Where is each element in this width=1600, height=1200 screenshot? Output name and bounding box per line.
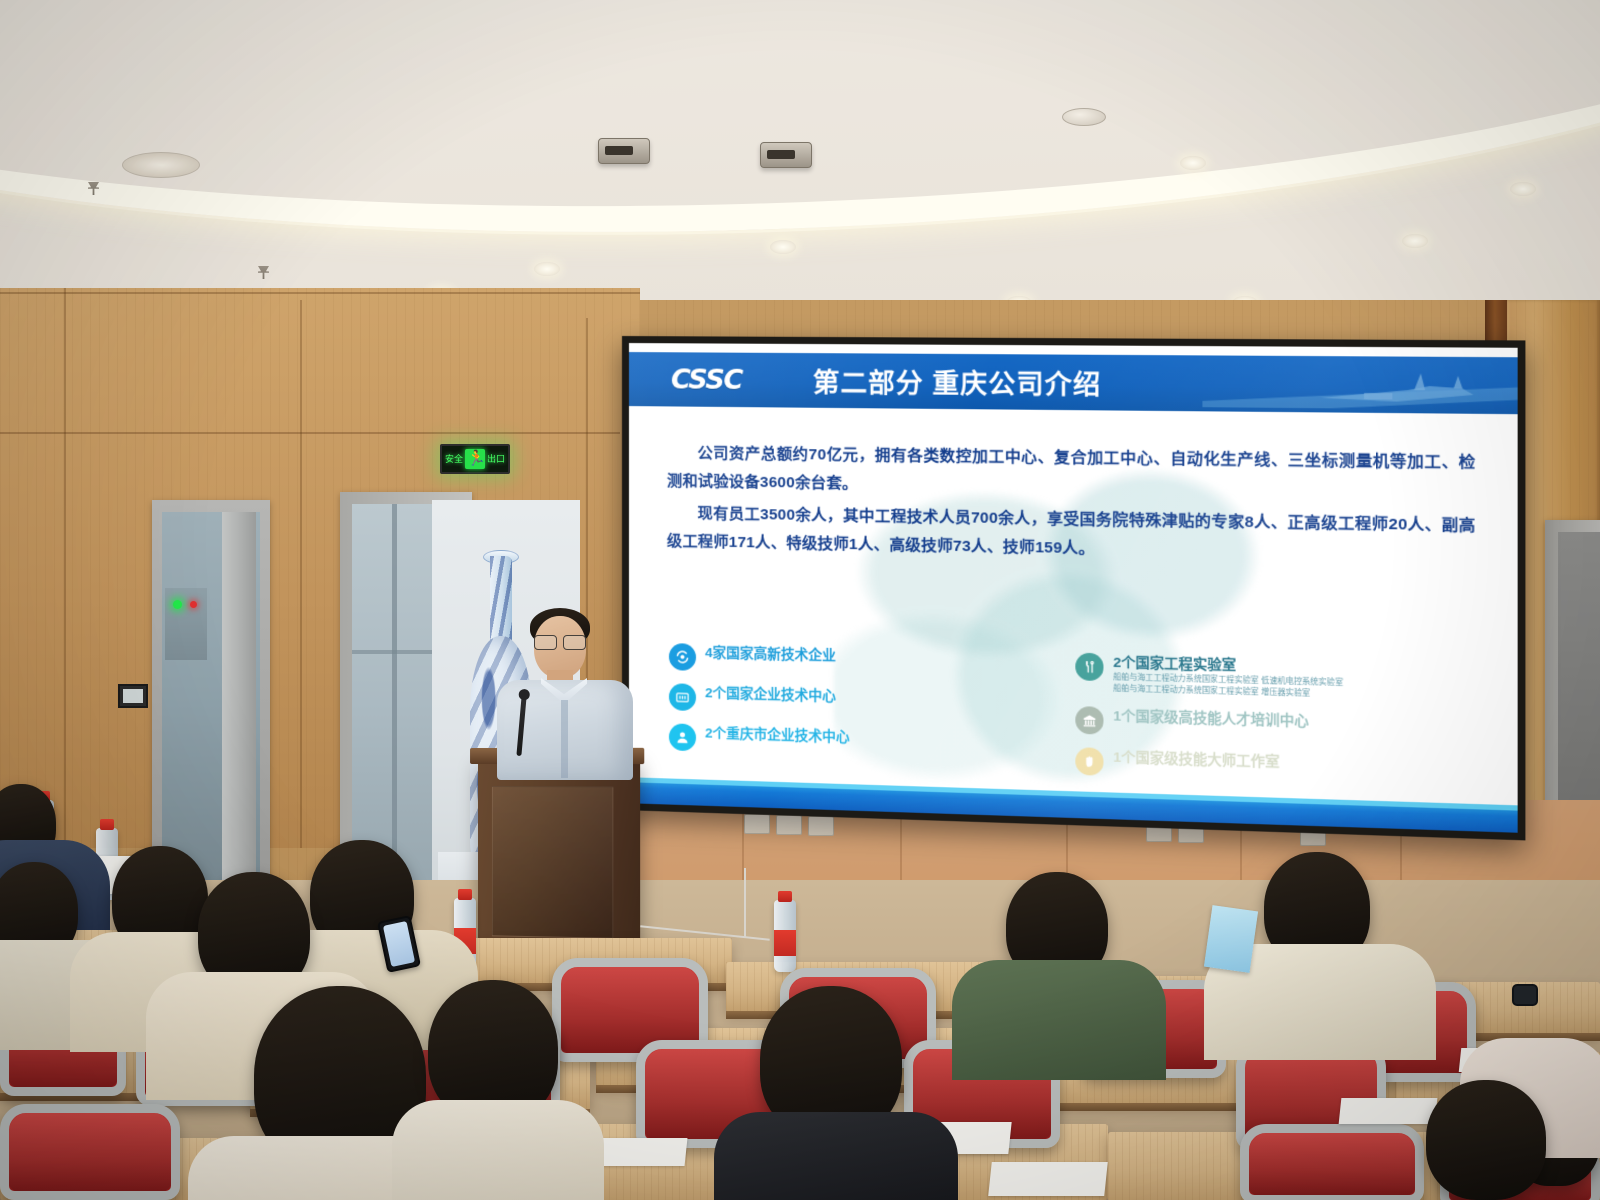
exit-sign-right-text: 出口 [487, 455, 505, 464]
highlight-label: 4家国家高新技术企业 [705, 644, 836, 665]
highlight-item: 2个重庆市企业技术中心 [669, 723, 1048, 761]
presenter-shirt-placket [561, 700, 568, 778]
smoke-detector [1062, 108, 1106, 126]
glasses-icon [534, 635, 586, 648]
highlight-label: 2个重庆市企业技术中心 [705, 724, 850, 746]
projection-screen: CSSC 第二部分 重庆公司介绍 公司资产总额约70亿元，拥有各类数控加工中心、… [622, 336, 1525, 840]
wall-seam [0, 432, 620, 434]
paper-handout [988, 1162, 1108, 1196]
ceiling-downlight [770, 240, 796, 254]
ceiling-downlight [1402, 234, 1428, 248]
ceiling-recessed-fixture [122, 152, 200, 178]
wall-socket[interactable] [744, 814, 770, 834]
wall-seam [0, 292, 640, 294]
slide-right-column: 2个国家工程实验室 船舶与海工工程动力系统国家工程实验室 低速机电控系统实验室 … [1075, 653, 1473, 787]
highlight-text-block: 2个国家工程实验室 船舶与海工工程动力系统国家工程实验室 低速机电控系统实验室 … [1113, 654, 1343, 700]
audience-shoulders [714, 1112, 958, 1200]
audience-head [1426, 1080, 1546, 1200]
ceiling-downlight [534, 262, 560, 276]
door-status-light-green [173, 600, 182, 609]
handout-booklet[interactable] [1204, 905, 1258, 973]
wall-socket[interactable] [776, 815, 802, 835]
ceiling-downlight [1510, 182, 1536, 196]
highlight-item: 2个国家企业技术中心 [669, 683, 1048, 721]
audience-shoulders [392, 1100, 604, 1200]
cssc-logo: CSSC [671, 364, 742, 396]
ceiling-downlight [1180, 156, 1206, 170]
slide-header-bar: CSSC 第二部分 重庆公司介绍 [629, 352, 1518, 414]
highlight-item: 1个国家级高技能人才培训中心 [1075, 706, 1473, 745]
tools-icon [1075, 653, 1103, 681]
lectern-front-panel [492, 786, 613, 939]
wall-seam [300, 300, 302, 848]
presenter [497, 608, 633, 780]
door-control-plate [165, 588, 207, 660]
ceiling-projector [760, 142, 812, 168]
slide-paragraph-1: 公司资产总额约70亿元，拥有各类数控加工中心、复合加工中心、自动化生产线、三坐标… [667, 440, 1476, 508]
slide-surface: CSSC 第二部分 重庆公司介绍 公司资产总额约70亿元，拥有各类数控加工中心、… [629, 343, 1518, 833]
wall-plaque [118, 684, 148, 708]
slide-title: 第二部分 重庆公司介绍 [813, 362, 1101, 402]
water-bottle[interactable] [774, 900, 796, 972]
door-status-light-red [190, 601, 197, 608]
chair[interactable] [0, 1104, 180, 1200]
ceiling-projector [598, 138, 650, 164]
highlight-label: 1个国家级高技能人才培训中心 [1113, 707, 1309, 731]
paper-handout [1339, 1098, 1438, 1124]
wall-cable [744, 868, 752, 938]
building-icon [669, 683, 696, 711]
exit-sign-left-text: 安全 [445, 455, 463, 464]
person-icon [669, 723, 696, 751]
wall-seam [64, 288, 66, 848]
slide-highlight-columns: 4家国家高新技术企业 2个国家企业技术中心 [629, 642, 1518, 788]
highlight-item: 4家国家高新技术企业 [669, 643, 1048, 680]
paper-handout [599, 1138, 688, 1166]
emergency-exit-sign: 安全 出口 [440, 444, 510, 474]
wristwatch [1512, 984, 1538, 1006]
highlight-label: 2个国家企业技术中心 [705, 684, 836, 706]
wall-socket[interactable] [808, 816, 834, 836]
highlight-label: 1个国家级技能大师工作室 [1113, 748, 1279, 772]
running-person-icon [465, 449, 485, 469]
highlight-item: 2个国家工程实验室 船舶与海工工程动力系统国家工程实验室 低速机电控系统实验室 … [1075, 653, 1473, 703]
audience-shoulders [952, 960, 1166, 1080]
highlight-item: 1个国家级技能大师工作室 [1075, 747, 1473, 787]
chair[interactable] [1240, 1124, 1424, 1200]
warship-graphic-icon [1202, 366, 1517, 414]
left-door-leaf[interactable] [222, 512, 256, 920]
slide-left-column: 4家国家高新技术企业 2个国家企业技术中心 [669, 643, 1048, 774]
slide-body: 公司资产总额约70亿元，拥有各类数控加工中心、复合加工中心、自动化生产线、三坐标… [629, 415, 1518, 805]
institute-icon [1075, 706, 1103, 735]
cycle-icon [669, 643, 696, 671]
slide-paragraph-2: 现有员工3500余人，其中工程技术人员700余人，享受国务院特殊津贴的专家8人、… [667, 500, 1476, 571]
presentation-room-photo: 安全 出口 CSSC 第二部分 重庆公司介绍 [0, 0, 1600, 1200]
hand-icon [1075, 747, 1103, 776]
